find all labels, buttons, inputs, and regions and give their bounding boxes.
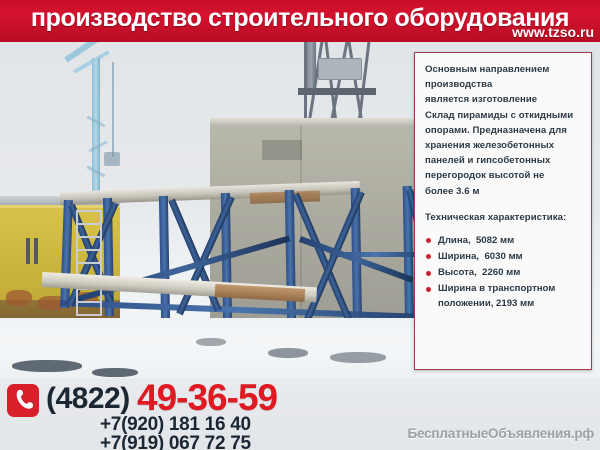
site-watermark: БесплатныеОбъявления.рф <box>407 425 594 442</box>
header-banner: производство строительного оборудования … <box>0 0 600 42</box>
bullet-icon <box>426 238 431 243</box>
phone-alt-number-2[interactable]: +7(919) 067 72 75 <box>100 433 251 450</box>
spec-item-length: Длина, 5082 мм <box>425 234 583 249</box>
ground-debris <box>268 348 308 358</box>
bullet-icon <box>426 254 431 259</box>
description-line: опорами. Предназначена для <box>425 123 583 138</box>
description-line: более 3.6 м <box>425 184 583 199</box>
container-fitting <box>34 238 38 264</box>
rust-patch <box>6 290 32 306</box>
description-line: хранения железобетонных <box>425 138 583 153</box>
description-line: Склад пирамиды с откидными <box>425 108 583 123</box>
specs-list: Длина, 5082 мм Ширина, 6030 мм Высота, 2… <box>425 234 583 311</box>
product-description: Основным направлением производства являе… <box>425 62 583 199</box>
bullet-icon <box>426 271 431 276</box>
spec-value-wrapped: положении, 2193 мм <box>438 297 583 312</box>
crane-hook <box>104 152 120 166</box>
spec-label: Ширина, <box>438 251 479 262</box>
derrick-crossbeam <box>298 88 376 95</box>
spec-item-width: Ширина, 6030 мм <box>425 250 583 265</box>
derrick-cab <box>318 58 362 80</box>
description-line: является изготовление <box>425 92 583 107</box>
spec-value: 2260 мм <box>482 267 520 278</box>
ladder <box>76 210 102 315</box>
product-info-box: Основным направлением производства являе… <box>414 52 592 370</box>
ground-debris <box>330 352 386 363</box>
spec-value: 5082 мм <box>476 235 514 246</box>
description-line: производства <box>425 77 583 92</box>
spec-value: 6030 мм <box>484 251 522 262</box>
container-fitting <box>26 238 30 264</box>
banner-title: производство строительного оборудования <box>0 3 600 33</box>
description-line: Основным направлением <box>425 62 583 77</box>
spec-label: Ширина в транспортном <box>438 283 555 294</box>
description-line: панелей и гипсобетонных <box>425 153 583 168</box>
spec-item-transport-width: Ширина в транспортном положении, 2193 мм <box>425 282 583 311</box>
advertisement-image: производство строительного оборудования … <box>0 0 600 450</box>
spec-item-height: Высота, 2260 мм <box>425 266 583 281</box>
phone-area-code: (4822) <box>46 382 130 416</box>
bullet-icon <box>426 287 431 292</box>
crane-cable <box>112 62 114 157</box>
spec-label: Длина, <box>438 235 471 246</box>
ground-debris <box>196 338 226 346</box>
ground-debris <box>12 360 82 372</box>
phone-alt-number-1[interactable]: +7(920) 181 16 40 <box>100 414 251 435</box>
banner-website-url[interactable]: www.tzso.ru <box>512 25 594 40</box>
concrete-panel-marking <box>262 140 302 160</box>
contact-footer: (4822) 49-36-59 +7(920) 181 16 40 +7(919… <box>0 378 600 450</box>
phone-main-number[interactable]: 49-36-59 <box>137 378 277 418</box>
description-line: перегородок высотой не <box>425 168 583 183</box>
specs-heading: Техническая характеристика: <box>425 212 583 223</box>
phone-handset-icon <box>7 384 39 417</box>
ground-debris <box>92 368 138 377</box>
spec-label: Высота, <box>438 267 477 278</box>
